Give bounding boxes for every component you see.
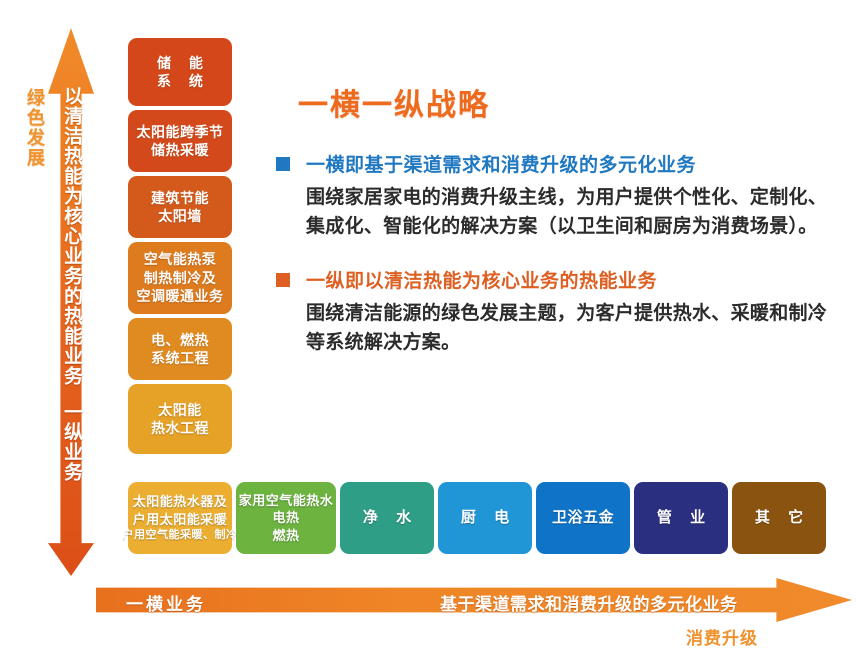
horizontal-business-box-line: 其 它 xyxy=(748,508,810,528)
vertical-business-box: 建筑节能太阳墙 xyxy=(128,176,232,238)
horizontal-business-box-line: 卫浴五金 xyxy=(552,508,614,528)
horizontal-business-box: 其 它 xyxy=(732,482,826,554)
vertical-business-box-line: 太阳能跨季节 xyxy=(137,123,224,141)
bullet-text: 围绕清洁能源的绿色发展主题，为客户提供热水、采暖和制冷等系统解决方案。 xyxy=(306,300,836,358)
bullet-body: 一纵即以清洁热能为核心业务的热能业务围绕清洁能源的绿色发展主题，为客户提供热水、… xyxy=(306,266,836,358)
bullet-heading: 一横即基于渠道需求和消费升级的多元化业务 xyxy=(306,150,836,177)
horizontal-business-box-line: 户用太阳能采暖 xyxy=(133,511,228,528)
vertical-business-box-line: 制热制冷及 xyxy=(144,269,217,287)
horizontal-business-box-line: 燃热 xyxy=(272,527,299,544)
horizontal-business-row: 太阳能热水器及户用太阳能采暖户用空气能采暖、制冷家用空气能热水电热燃热净 水厨 … xyxy=(128,482,826,554)
vertical-business-box-line: 太阳墙 xyxy=(158,207,202,225)
horizontal-business-box-line: 净 水 xyxy=(356,508,418,528)
horizontal-business-box: 管 业 xyxy=(634,482,728,554)
vertical-business-box-line: 储热采暖 xyxy=(151,141,209,159)
vertical-business-box-line: 系 统 xyxy=(150,72,210,90)
vertical-business-box-line: 系统工程 xyxy=(151,349,209,367)
vertical-arrow-label: 以清洁热能为核心业务的热能业务 一纵业务 xyxy=(52,86,90,556)
green-development-label: 绿色发展 xyxy=(22,88,48,168)
vertical-business-box-line: 电、燃热 xyxy=(151,331,209,349)
vertical-business-box-line: 太阳能 xyxy=(158,401,202,419)
horizontal-business-box-line: 电热 xyxy=(272,509,299,526)
vertical-arrow-label-bottom: 一纵业务 xyxy=(61,402,81,482)
horizontal-business-box-line: 户用空气能采暖、制冷 xyxy=(123,528,238,543)
bullet-item: 一纵即以清洁热能为核心业务的热能业务围绕清洁能源的绿色发展主题，为客户提供热水、… xyxy=(276,266,836,358)
horizontal-business-box: 太阳能热水器及户用太阳能采暖户用空气能采暖、制冷 xyxy=(128,482,232,554)
vertical-business-box: 太阳能热水工程 xyxy=(128,384,232,454)
vertical-business-box: 储 能系 统 xyxy=(128,38,232,106)
vertical-business-box-line: 空气能热泵 xyxy=(144,250,217,268)
square-bullet-blue-icon xyxy=(276,157,290,171)
horizontal-business-box: 家用空气能热水电热燃热 xyxy=(236,482,336,554)
vertical-business-stack: 储 能系 统太阳能跨季节储热采暖建筑节能太阳墙空气能热泵制热制冷及空调暖通业务电… xyxy=(128,38,232,458)
horizontal-business-box-line: 管 业 xyxy=(650,508,712,528)
vertical-business-box-line: 空调暖通业务 xyxy=(137,287,224,305)
vertical-business-box: 空气能热泵制热制冷及空调暖通业务 xyxy=(128,242,232,314)
bullet-list: 一横即基于渠道需求和消费升级的多元化业务围绕家居家电的消费升级主线，为用户提供个… xyxy=(276,150,836,358)
bullet-body: 一横即基于渠道需求和消费升级的多元化业务围绕家居家电的消费升级主线，为用户提供个… xyxy=(306,150,836,242)
consumption-upgrade-label: 消费升级 xyxy=(686,624,758,649)
vertical-business-box-line: 储 能 xyxy=(150,54,210,72)
square-bullet-orange-icon xyxy=(276,273,290,287)
vertical-business-box: 电、燃热系统工程 xyxy=(128,318,232,380)
bullet-item: 一横即基于渠道需求和消费升级的多元化业务围绕家居家电的消费升级主线，为用户提供个… xyxy=(276,150,836,242)
vertical-business-box-line: 建筑节能 xyxy=(151,189,209,207)
strategy-panel: 一横一纵战略 一横即基于渠道需求和消费升级的多元化业务围绕家居家电的消费升级主线… xyxy=(276,80,836,382)
vertical-business-box: 太阳能跨季节储热采暖 xyxy=(128,110,232,172)
horizontal-arrow-left-label: 一横业务 xyxy=(126,590,206,615)
horizontal-business-box-line: 厨 电 xyxy=(454,508,516,528)
strategy-diagram: 以清洁热能为核心业务的热能业务 一纵业务 绿色发展 一横业务 基于渠道需求和消费… xyxy=(0,0,856,664)
horizontal-arrow-right-label: 基于渠道需求和消费升级的多元化业务 xyxy=(440,590,738,615)
bullet-text: 围绕家居家电的消费升级主线，为用户提供个性化、定制化、集成化、智能化的解决方案（… xyxy=(306,184,836,242)
horizontal-business-box-line: 太阳能热水器及 xyxy=(133,493,228,510)
horizontal-business-box: 卫浴五金 xyxy=(536,482,630,554)
horizontal-business-box-line: 家用空气能热水 xyxy=(239,492,334,509)
vertical-business-box-line: 热水工程 xyxy=(151,419,209,437)
vertical-arrow-label-top: 以清洁热能为核心业务的热能业务 xyxy=(61,86,81,386)
page-title: 一横一纵战略 xyxy=(298,80,836,124)
horizontal-business-box: 净 水 xyxy=(340,482,434,554)
bullet-heading: 一纵即以清洁热能为核心业务的热能业务 xyxy=(306,266,836,293)
horizontal-business-box: 厨 电 xyxy=(438,482,532,554)
